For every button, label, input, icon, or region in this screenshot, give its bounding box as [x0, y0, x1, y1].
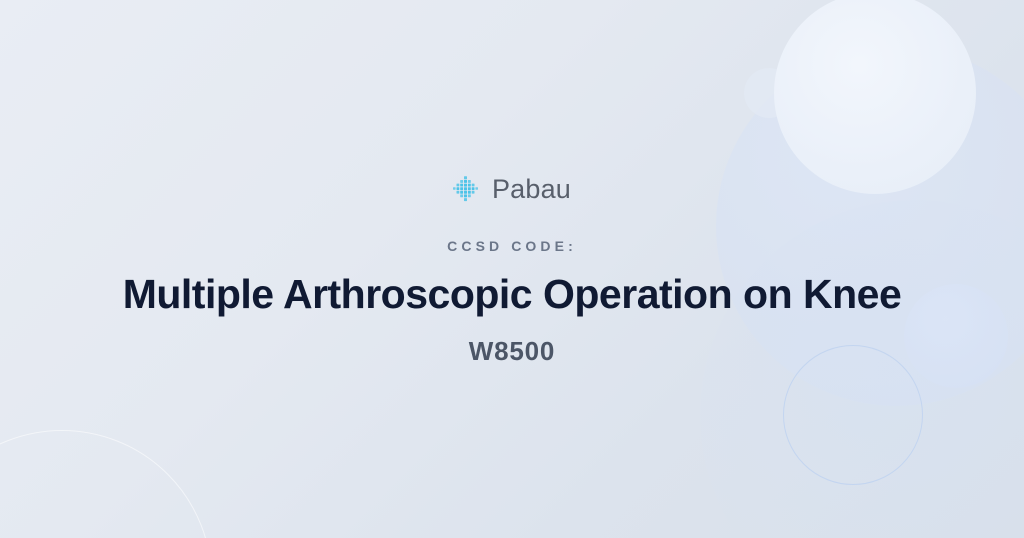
ccsd-code-value: W8500: [469, 338, 555, 364]
pabau-diamond-dots-logo: [453, 174, 481, 204]
pabau-brand-lockup: Pabau: [453, 174, 571, 204]
card-content: Pabau CCSD CODE: Multiple Arthroscopic O…: [0, 0, 1024, 538]
procedure-title: Multiple Arthroscopic Operation on Knee: [123, 272, 902, 318]
pabau-wordmark: Pabau: [492, 176, 571, 203]
ccsd-code-eyebrow-label: CCSD CODE:: [447, 238, 577, 254]
share-card: Pabau CCSD CODE: Multiple Arthroscopic O…: [0, 0, 1024, 538]
